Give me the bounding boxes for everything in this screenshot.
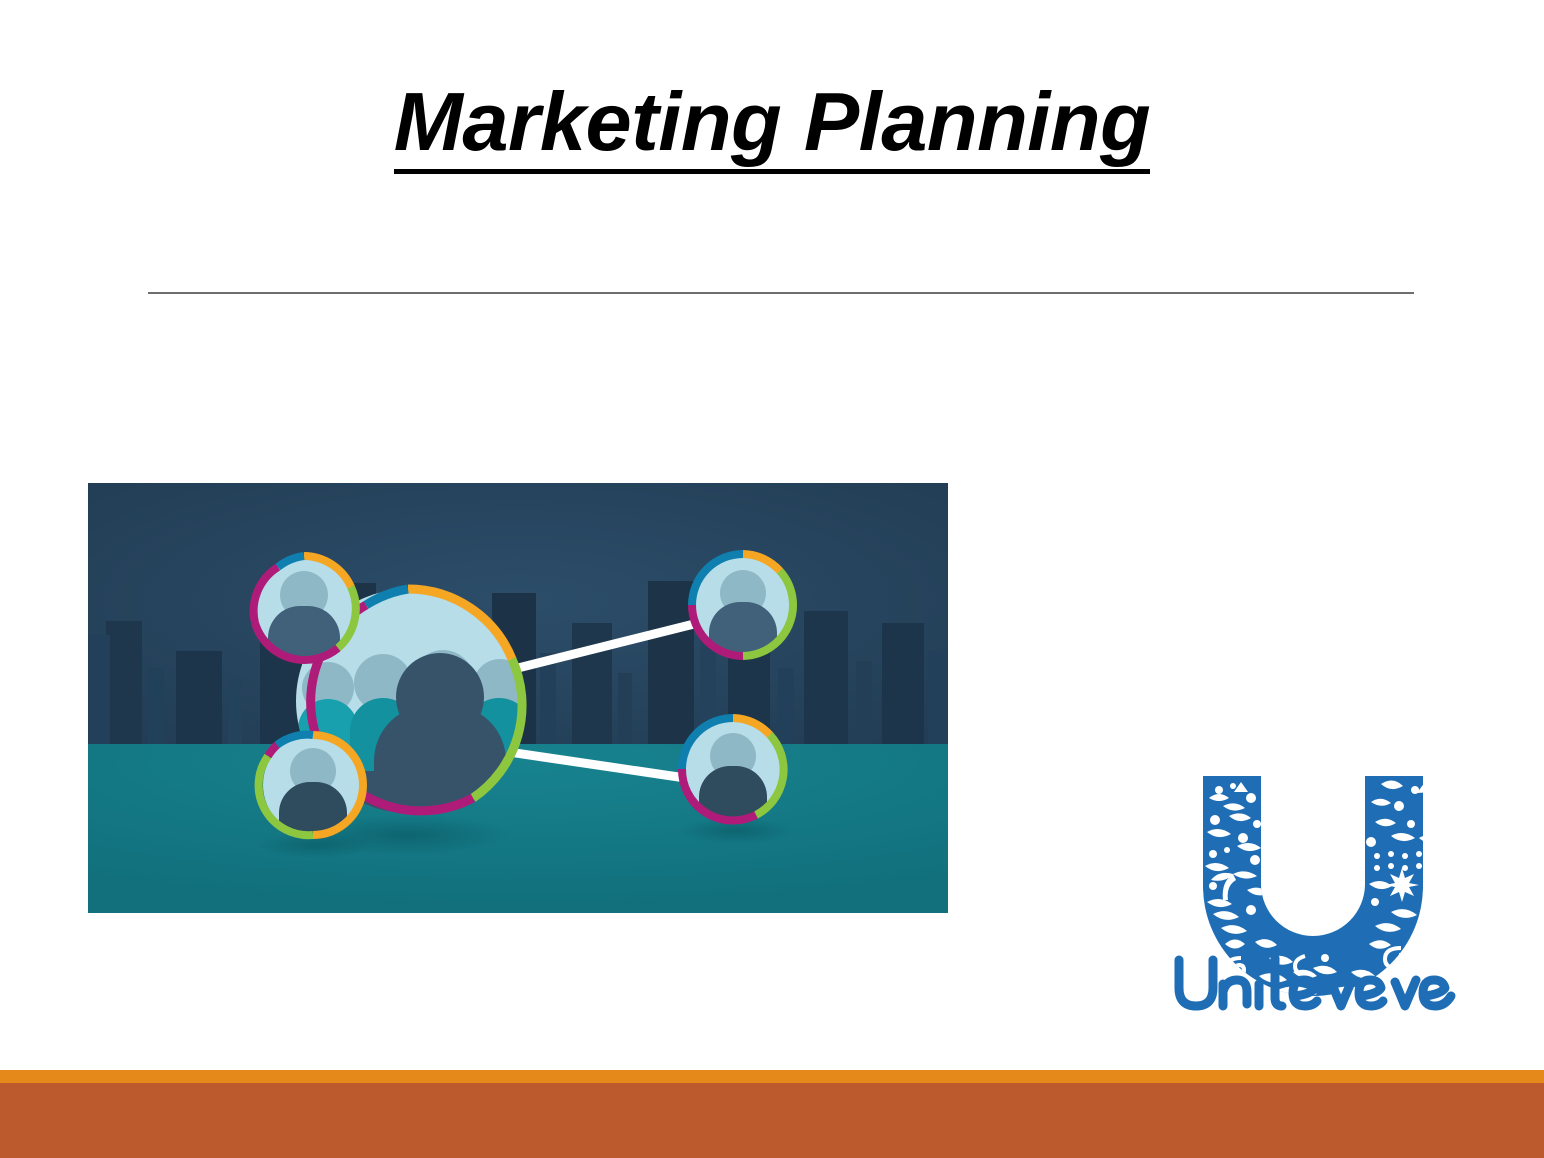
page-title: Marketing Planning (0, 78, 1544, 174)
slide-canvas: Marketing Planning (0, 0, 1544, 1158)
footer-band-terracotta (0, 1083, 1544, 1158)
page-title-text: Marketing Planning (394, 78, 1151, 174)
header-divider (148, 292, 1414, 294)
node-bottom-right (682, 718, 784, 827)
network-of-people-illustration (88, 483, 948, 913)
unilever-logo (1163, 762, 1463, 1022)
footer-stripe-orange (0, 1070, 1544, 1083)
